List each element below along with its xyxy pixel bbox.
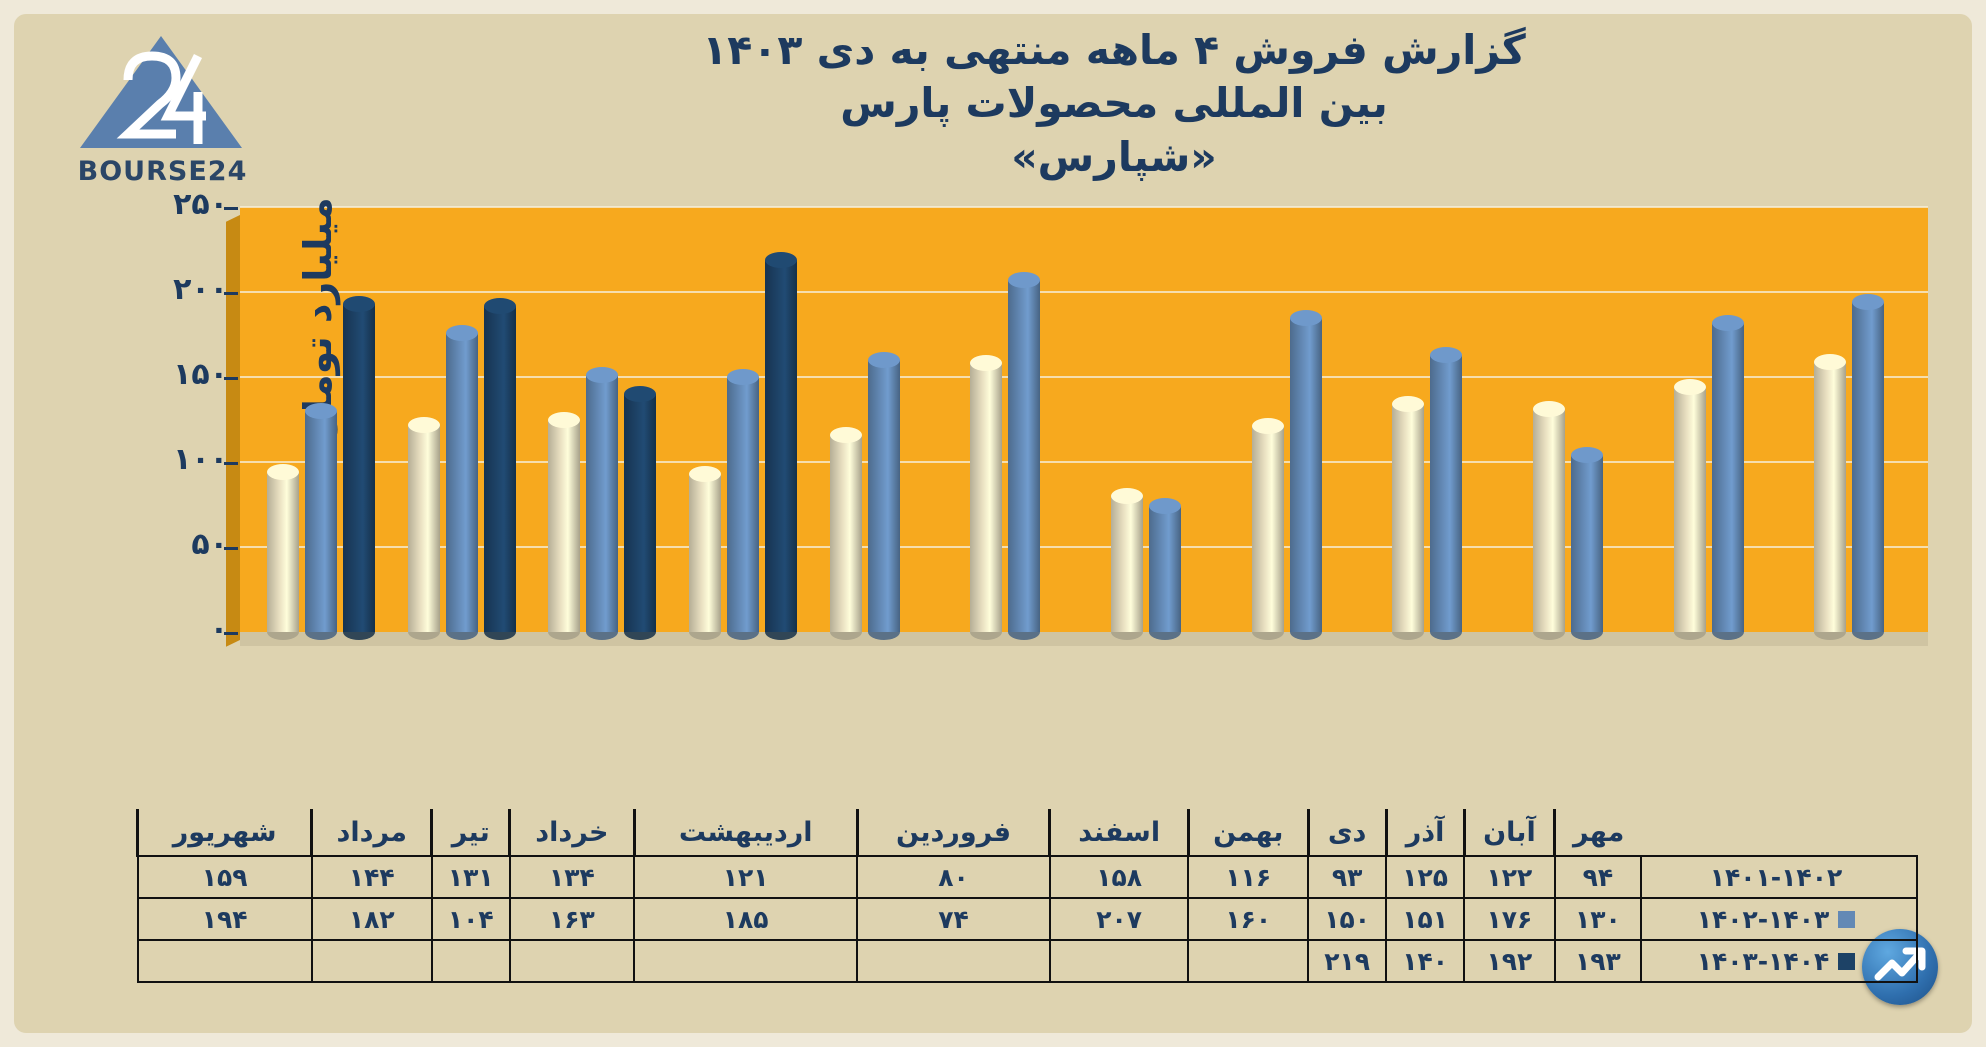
bar	[586, 375, 618, 632]
bar-cap	[689, 466, 721, 482]
bar-cap	[305, 403, 337, 419]
month-header-cell: اردیبهشت	[634, 809, 857, 856]
bar-body	[446, 333, 478, 632]
bar-body	[305, 411, 337, 632]
y-axis-tick-label: ۲۰۰	[108, 272, 228, 307]
bar	[1814, 362, 1846, 632]
bar-cap	[408, 417, 440, 433]
bar-body	[1674, 387, 1706, 632]
month-header-row: مهرآبانآذردیبهمناسفندفروردیناردیبهشتخردا…	[138, 809, 1918, 856]
bar-cap	[830, 427, 862, 443]
bar-cap	[1712, 315, 1744, 331]
bar	[343, 304, 375, 632]
data-cell: ۲۱۹	[1308, 940, 1386, 982]
data-cell: ۲۰۷	[1050, 898, 1188, 940]
chart-card: BOURSE24 گزارش فروش ۴ ماهه منتهی به دی ۱…	[0, 0, 1986, 1047]
bar	[1290, 318, 1322, 633]
bar-cap	[1252, 418, 1284, 434]
bar	[1852, 302, 1884, 632]
bar	[408, 425, 440, 632]
month-header-cell: دی	[1308, 809, 1386, 856]
empty-cell	[634, 940, 857, 982]
empty-cell	[1050, 940, 1188, 982]
data-cell: ۱۴۴	[312, 856, 432, 898]
bar-body	[267, 472, 299, 632]
data-cell: ۱۲۱	[634, 856, 857, 898]
y-axis-tick-mark	[224, 462, 238, 465]
data-cell: ۱۸۲	[312, 898, 432, 940]
data-cell: ۱۸۵	[634, 898, 857, 940]
bar-cap	[624, 386, 656, 402]
bar	[267, 472, 299, 632]
bar-body	[970, 363, 1002, 632]
bar	[1533, 409, 1565, 632]
empty-cell	[432, 940, 510, 982]
bar-group	[686, 207, 800, 632]
plot-area: ۰۵۰۱۰۰۱۵۰۲۰۰۲۵۰میلیارد تومان	[240, 207, 1928, 632]
empty-cell	[312, 940, 432, 982]
bar	[1392, 404, 1424, 632]
title-line-1: گزارش فروش ۴ ماهه منتهی به دی ۱۴۰۳	[314, 24, 1914, 77]
bar-body	[484, 306, 516, 632]
bar	[624, 394, 656, 632]
bar	[868, 360, 900, 632]
y-axis-tick-label: ۱۵۰	[108, 357, 228, 392]
bar-body	[624, 394, 656, 632]
series-legend-label: ۱۴۰۱-۱۴۰۲	[1641, 856, 1917, 898]
bar-body	[548, 420, 580, 633]
bar	[970, 363, 1002, 632]
data-cell: ۷۴	[857, 898, 1050, 940]
data-cell: ۱۴۰	[1386, 940, 1464, 982]
bar-group	[827, 207, 903, 632]
series-name: ۱۴۰۲-۱۴۰۳	[1697, 905, 1829, 934]
y-axis-tick-label: ۲۵۰	[108, 187, 228, 222]
y-axis-tick-label: ۰	[108, 612, 228, 647]
data-cell: ۱۹۳	[1555, 940, 1641, 982]
data-cell: ۱۳۰	[1555, 898, 1641, 940]
table-row: ۱۴۰۲-۱۴۰۳۱۳۰۱۷۶۱۵۱۱۵۰۱۶۰۲۰۷۷۴۱۸۵۱۶۳۱۰۴۱۸…	[138, 898, 1918, 940]
data-cell: ۱۳۴	[510, 856, 634, 898]
bar	[727, 377, 759, 632]
bar	[484, 306, 516, 632]
y-axis-tick-mark	[224, 632, 238, 635]
data-cell: ۱۵۱	[1386, 898, 1464, 940]
bar	[1252, 426, 1284, 632]
bar-body	[1852, 302, 1884, 632]
month-header-cell: فروردین	[857, 809, 1050, 856]
data-cell: ۱۷۶	[1464, 898, 1555, 940]
bar-body	[1712, 323, 1744, 632]
bar-body	[1533, 409, 1565, 632]
month-header-cell: مهر	[1555, 809, 1641, 856]
data-cell: ۱۵۸	[1050, 856, 1188, 898]
empty-cell	[138, 940, 312, 982]
table-row: ۱۴۰۳-۱۴۰۴۱۹۳۱۹۲۱۴۰۲۱۹	[138, 940, 1918, 982]
table-corner-cell	[1641, 809, 1917, 856]
data-cell: ۱۳۱	[432, 856, 510, 898]
month-header-cell: آذر	[1386, 809, 1464, 856]
month-header-cell: مرداد	[312, 809, 432, 856]
bar-cap	[727, 369, 759, 385]
bar-group	[1811, 207, 1887, 632]
empty-cell	[1188, 940, 1308, 982]
legend-swatch	[1838, 953, 1855, 970]
bar-body	[689, 474, 721, 632]
bar	[305, 411, 337, 632]
bar-body	[1111, 496, 1143, 632]
bar-body	[1252, 426, 1284, 632]
page-title: گزارش فروش ۴ ماهه منتهی به دی ۱۴۰۳ بین ا…	[314, 24, 1914, 184]
data-cell: ۱۶۳	[510, 898, 634, 940]
bar	[830, 435, 862, 632]
bar-body	[727, 377, 759, 632]
bar-group	[1671, 207, 1747, 632]
month-header-cell: بهمن	[1188, 809, 1308, 856]
bar-body	[765, 260, 797, 632]
empty-cell	[510, 940, 634, 982]
y-axis-tick-mark	[224, 292, 238, 295]
data-cell: ۹۴	[1555, 856, 1641, 898]
bar-body	[1430, 355, 1462, 632]
bar-body	[868, 360, 900, 632]
series-legend-label: ۱۴۰۲-۱۴۰۳	[1641, 898, 1917, 940]
data-cell: ۸۰	[857, 856, 1050, 898]
data-cell: ۱۰۴	[432, 898, 510, 940]
bar-body	[1392, 404, 1424, 632]
data-cell: ۱۲۲	[1464, 856, 1555, 898]
bar-group	[967, 207, 1043, 632]
bar-cap	[868, 352, 900, 368]
bar-cap	[1290, 310, 1322, 326]
bourse24-logo: BOURSE24	[76, 32, 246, 192]
bar-cap	[1111, 488, 1143, 504]
bar-cap	[484, 298, 516, 314]
data-cell: ۹۳	[1308, 856, 1386, 898]
title-line-2: بین المللی محصولات پارس	[314, 77, 1914, 130]
bar-body	[830, 435, 862, 632]
data-cell: ۱۱۶	[1188, 856, 1308, 898]
y-axis-tick-mark	[224, 547, 238, 550]
bar	[446, 333, 478, 632]
data-cell: ۱۶۰	[1188, 898, 1308, 940]
bar	[548, 420, 580, 633]
y-axis-tick-label: ۵۰	[108, 527, 228, 562]
y-axis-tick-mark	[224, 377, 238, 380]
bar-body	[1149, 506, 1181, 632]
table-row: ۱۴۰۱-۱۴۰۲۹۴۱۲۲۱۲۵۹۳۱۱۶۱۵۸۸۰۱۲۱۱۳۴۱۳۱۱۴۴۱…	[138, 856, 1918, 898]
bar	[1430, 355, 1462, 632]
bar	[1571, 455, 1603, 632]
data-cell: ۱۹۴	[138, 898, 312, 940]
bar-cap	[1430, 347, 1462, 363]
bar-body	[1814, 362, 1846, 632]
bar-cap	[765, 252, 797, 268]
month-header-cell: خرداد	[510, 809, 634, 856]
bar	[689, 474, 721, 632]
bar	[765, 260, 797, 632]
bar	[1712, 323, 1744, 632]
bar-cap	[343, 296, 375, 312]
bar-group	[264, 207, 378, 632]
y-axis-tick-label: ۱۰۰	[108, 442, 228, 477]
y-axis-tick-mark	[224, 207, 238, 210]
bar-body	[343, 304, 375, 632]
bar-group	[1108, 207, 1184, 632]
bar-group	[1389, 207, 1465, 632]
bar	[1674, 387, 1706, 632]
bar-cap	[1814, 354, 1846, 370]
legend-swatch	[1838, 911, 1855, 928]
series-name: ۱۴۰۱-۱۴۰۲	[1710, 863, 1842, 892]
data-cell: ۱۵۹	[138, 856, 312, 898]
bar	[1149, 506, 1181, 632]
bar-group	[545, 207, 659, 632]
bar-cap	[1674, 379, 1706, 395]
bar-body	[408, 425, 440, 632]
bar-body	[586, 375, 618, 632]
bar	[1008, 280, 1040, 632]
bar-body	[1008, 280, 1040, 632]
series-name: ۱۴۰۳-۱۴۰۴	[1697, 947, 1829, 976]
bar-body	[1290, 318, 1322, 633]
month-header-cell: اسفند	[1050, 809, 1188, 856]
data-cell: ۱۲۵	[1386, 856, 1464, 898]
triangle-24-logo-icon	[76, 32, 246, 152]
title-line-3: «شپارس»	[314, 131, 1914, 184]
data-cell: ۱۵۰	[1308, 898, 1386, 940]
logo-wordmark: BOURSE24	[70, 156, 255, 187]
data-cell: ۱۹۲	[1464, 940, 1555, 982]
month-header-cell: تیر	[432, 809, 510, 856]
bar-cap	[446, 325, 478, 341]
bar	[1111, 496, 1143, 632]
bar-cap	[548, 412, 580, 428]
series-legend-label: ۱۴۰۳-۱۴۰۴	[1641, 940, 1917, 982]
month-header-cell: شهریور	[138, 809, 312, 856]
month-header-cell: آبان	[1464, 809, 1555, 856]
bar-group	[1530, 207, 1606, 632]
empty-cell	[857, 940, 1050, 982]
bar-group	[405, 207, 519, 632]
bar-group	[1249, 207, 1325, 632]
bar-body	[1571, 455, 1603, 632]
data-table: مهرآبانآذردیبهمناسفندفروردیناردیبهشتخردا…	[136, 809, 1918, 983]
